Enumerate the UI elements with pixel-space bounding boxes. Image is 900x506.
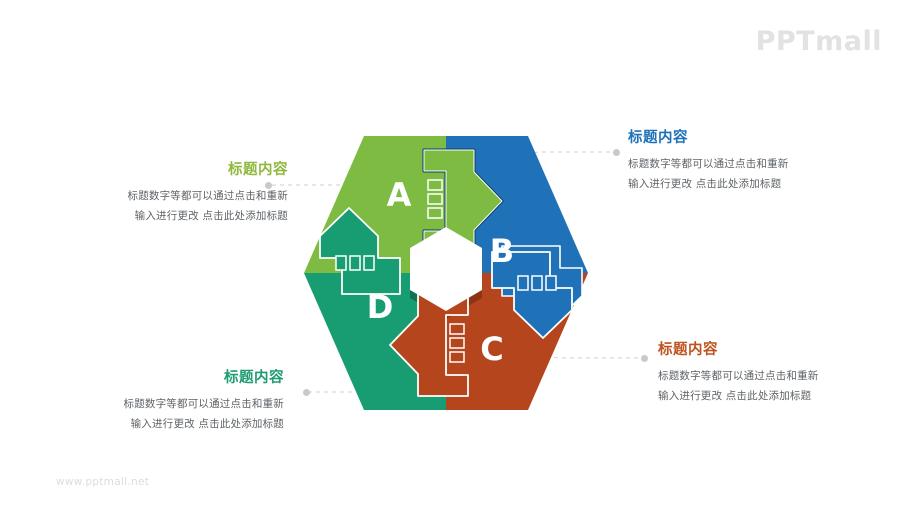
text-block-b-body: 标题数字等都可以通过点击和重新 输入进行更改 点击此处添加标题 <box>628 155 860 194</box>
text-block-c-line1: 标题数字等都可以通过点击和重新 <box>658 367 890 386</box>
text-block-b-heading: 标题内容 <box>628 128 860 148</box>
segment-label-a: A <box>387 176 412 214</box>
text-block-b-line2: 输入进行更改 点击此处添加标题 <box>628 175 860 194</box>
hexagon-arrow-diagram: A B C D <box>296 128 596 418</box>
text-block-d-line2: 输入进行更改 点击此处添加标题 <box>52 415 284 434</box>
text-block-c-heading: 标题内容 <box>658 340 890 360</box>
connector-dot-b <box>613 149 620 156</box>
text-block-a-line1: 标题数字等都可以通过点击和重新 <box>56 187 288 206</box>
pptmall-logo: PPTmall <box>756 26 882 57</box>
connector-dot-c <box>641 355 648 362</box>
text-block-c-body: 标题数字等都可以通过点击和重新 输入进行更改 点击此处添加标题 <box>658 367 890 406</box>
text-block-a-heading: 标题内容 <box>56 160 288 180</box>
text-block-a-line2: 输入进行更改 点击此处添加标题 <box>56 207 288 226</box>
text-block-d-line1: 标题数字等都可以通过点击和重新 <box>52 395 284 414</box>
text-block-c-line2: 输入进行更改 点击此处添加标题 <box>658 387 890 406</box>
segment-label-b: B <box>490 232 514 270</box>
segment-label-c: C <box>480 330 503 368</box>
segment-label-d: D <box>367 288 394 326</box>
slide-canvas: PPTmall <box>0 0 900 506</box>
footer-url: www.pptmall.net <box>56 476 149 488</box>
text-block-b-line1: 标题数字等都可以通过点击和重新 <box>628 155 860 174</box>
text-block-d-heading: 标题内容 <box>52 368 284 388</box>
text-block-a-body: 标题数字等都可以通过点击和重新 输入进行更改 点击此处添加标题 <box>56 187 288 226</box>
text-block-a: 标题内容 标题数字等都可以通过点击和重新 输入进行更改 点击此处添加标题 <box>56 160 288 226</box>
text-block-b: 标题内容 标题数字等都可以通过点击和重新 输入进行更改 点击此处添加标题 <box>628 128 860 194</box>
text-block-c: 标题内容 标题数字等都可以通过点击和重新 输入进行更改 点击此处添加标题 <box>658 340 890 406</box>
text-block-d: 标题内容 标题数字等都可以通过点击和重新 输入进行更改 点击此处添加标题 <box>52 368 284 434</box>
text-block-d-body: 标题数字等都可以通过点击和重新 输入进行更改 点击此处添加标题 <box>52 395 284 434</box>
